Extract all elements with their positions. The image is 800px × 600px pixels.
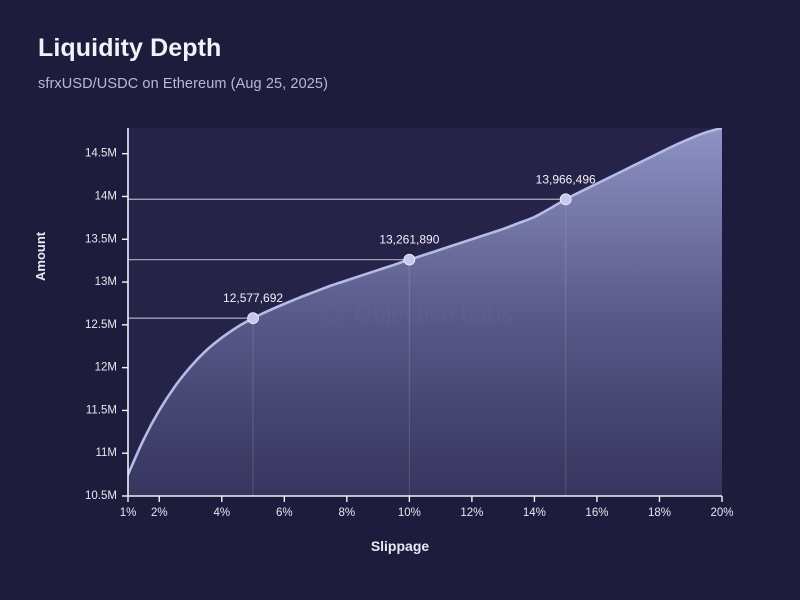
x-tick-label: 4% [213,507,230,519]
y-tick-label: 12.5M [85,319,117,331]
y-tick-label: 13M [95,276,117,288]
data-point-marker[interactable] [248,313,259,324]
data-point-label: 12,577,692 [223,291,283,305]
x-tick-label: 16% [585,507,608,519]
y-tick-label: 14M [95,190,117,202]
liquidity-depth-chart: Liquidity Depth sfrxUSD/USDC on Ethereum… [0,0,800,600]
y-axis-ticks: 10.5M11M11.5M12M12.5M13M13.5M14M14.5M [85,148,128,502]
y-tick-label: 14.5M [85,148,117,160]
y-tick-label: 11.5M [86,404,117,416]
x-tick-label: 14% [523,507,546,519]
y-tick-label: 11M [95,447,117,459]
x-tick-label: 12% [460,507,483,519]
plot-area: Objective Labs Objective Labs 12,577,692… [0,0,800,600]
y-tick-label: 13.5M [85,233,117,245]
data-point-marker[interactable] [404,254,415,265]
x-tick-label: 20% [710,507,733,519]
x-tick-label: 2% [151,507,168,519]
x-tick-label: 8% [339,507,356,519]
y-tick-label: 12M [95,362,117,374]
x-tick-label: 6% [276,507,293,519]
x-tick-label: 1% [120,507,137,519]
y-tick-label: 10.5M [85,490,117,502]
x-tick-label: 10% [398,507,421,519]
x-axis-ticks: 1%2%4%6%8%10%12%14%16%18%20% [120,496,734,519]
data-point-label: 13,966,496 [536,172,596,186]
x-tick-label: 18% [648,507,671,519]
data-point-marker[interactable] [560,194,571,205]
data-point-label: 13,261,890 [379,233,439,247]
